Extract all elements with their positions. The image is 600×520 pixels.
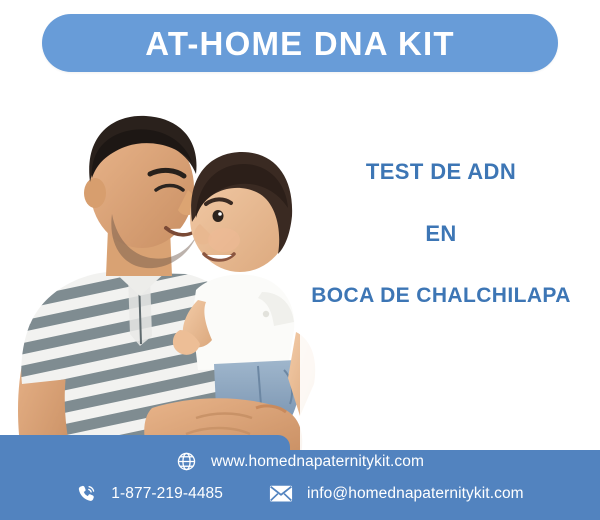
footer-website-row[interactable]: www.homednapaternitykit.com (0, 451, 600, 472)
banner-title: AT-HOME DNA KIT (145, 27, 454, 60)
website-text[interactable]: www.homednapaternitykit.com (211, 454, 424, 470)
footer-contact-row[interactable]: 1-877-219-4485 info@homednapaternitykit.… (0, 483, 600, 504)
poster-canvas: AT-HOME DNA KIT (0, 0, 600, 520)
footer-band: www.homednapaternitykit.com 1-877-219-44… (0, 435, 600, 520)
headline-line-3: BOCA DE CHALCHILAPA (286, 284, 596, 307)
headline-line-2: EN (286, 222, 596, 246)
footer-content: www.homednapaternitykit.com 1-877-219-44… (0, 435, 600, 520)
globe-icon (176, 451, 197, 472)
email-text[interactable]: info@homednapaternitykit.com (307, 486, 524, 502)
phone-text[interactable]: 1-877-219-4485 (111, 486, 223, 502)
envelope-icon (269, 484, 293, 503)
headline-block: TEST DE ADN EN BOCA DE CHALCHILAPA (286, 160, 596, 307)
banner-pill: AT-HOME DNA KIT (42, 14, 558, 72)
headline-line-1: TEST DE ADN (286, 160, 596, 184)
phone-icon (76, 483, 97, 504)
father-and-child-photo (0, 78, 320, 460)
